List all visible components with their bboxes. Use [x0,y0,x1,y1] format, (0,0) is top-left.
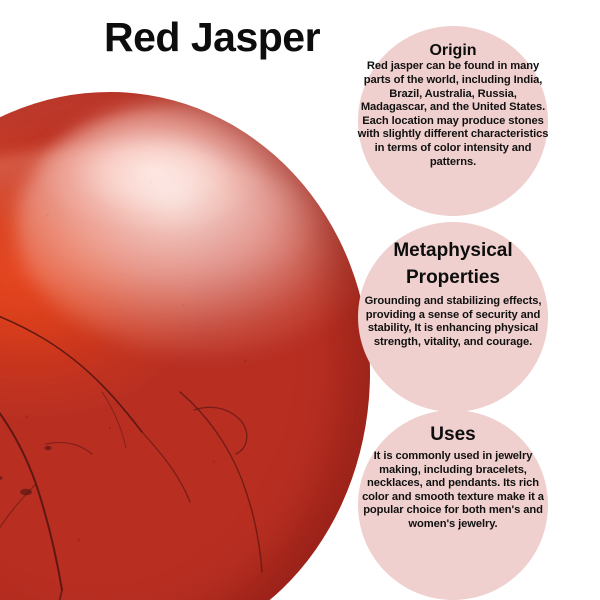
origin-body-text: Red jasper can be found in many parts of… [348,60,558,169]
stone-speckle-texture [0,92,370,600]
red-jasper-stone-image [0,92,370,600]
info-circle-origin-content: Origin Red jasper can be found in many p… [348,26,558,169]
info-circle-origin: Origin Red jasper can be found in many p… [358,26,548,216]
info-circle-uses-content: Uses It is commonly used in jewelry maki… [348,410,558,532]
infographic-canvas: Red Jasper Origin Red jasper can be foun… [0,0,600,600]
uses-body-text: It is commonly used in jewelry making, i… [348,450,558,532]
info-circle-uses: Uses It is commonly used in jewelry maki… [358,410,548,600]
origin-heading: Origin [348,42,558,60]
uses-heading: Uses [348,422,558,449]
stone-vein-cracks [0,92,370,600]
metaphysical-properties-heading: Metaphysical Properties [348,238,558,292]
stone-highlight-band [0,148,318,294]
info-circle-metaphysical-content: Metaphysical Properties Grounding and st… [348,222,558,349]
metaphysical-properties-body-text: Grounding and stabilizing effects, provi… [348,295,558,349]
stone-gloss-highlight [16,98,370,356]
info-circle-metaphysical-properties: Metaphysical Properties Grounding and st… [358,222,548,412]
